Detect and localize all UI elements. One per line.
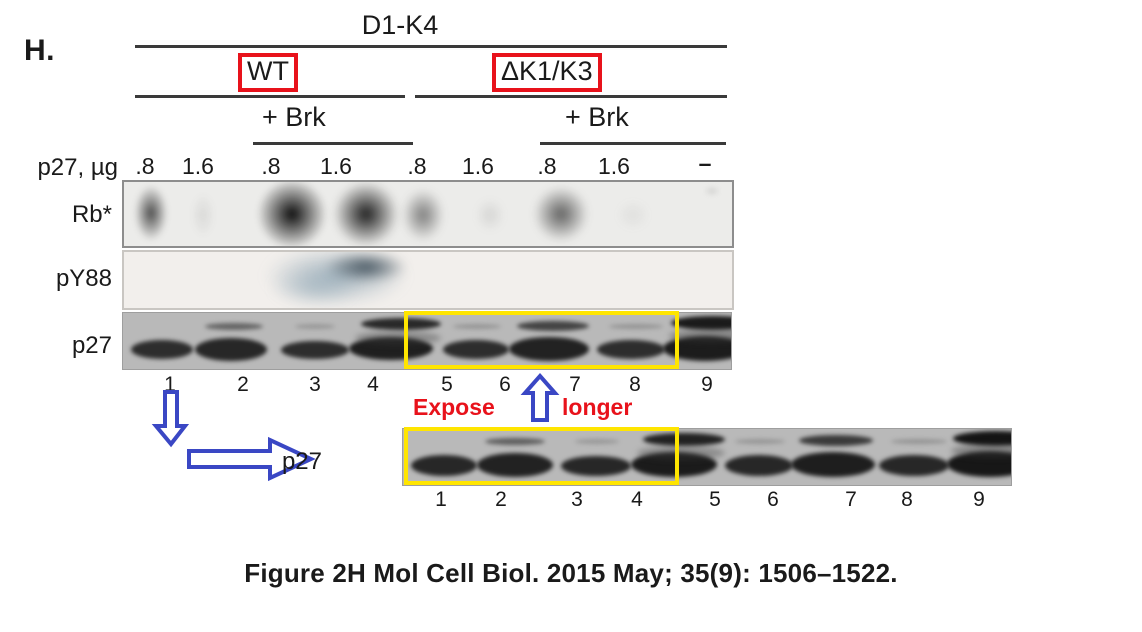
blot-band bbox=[671, 316, 732, 330]
blot-band bbox=[128, 180, 174, 248]
blot-row-label-p27-long: p27 bbox=[210, 450, 322, 474]
blot-band bbox=[524, 180, 598, 248]
dose-row-label: p27, µg bbox=[0, 156, 118, 180]
dose-lane-4: 1.6 bbox=[314, 155, 358, 178]
lane-number-bottom-9: 9 bbox=[964, 489, 994, 510]
lane-number-top-6: 6 bbox=[490, 374, 520, 395]
blot-band bbox=[411, 455, 477, 476]
lane-number-top-4: 4 bbox=[358, 374, 388, 395]
dose-lane-2: 1.6 bbox=[176, 155, 220, 178]
blot-band bbox=[643, 433, 725, 446]
blot-band bbox=[470, 194, 510, 236]
blot-band bbox=[735, 439, 785, 444]
blot-band bbox=[361, 318, 441, 330]
header-genotype-dk1k3: ΔK1/K3 bbox=[492, 53, 602, 92]
blot-band bbox=[131, 340, 193, 359]
header-treatment-brk-wt: + Brk bbox=[262, 104, 326, 131]
lane-number-top-3: 3 bbox=[300, 374, 330, 395]
header-treatment-brk-dk1k3: + Brk bbox=[565, 104, 629, 131]
lane-number-bottom-7: 7 bbox=[836, 489, 866, 510]
blot-band bbox=[799, 435, 873, 446]
dose-lane-3: .8 bbox=[254, 155, 288, 178]
blot-band bbox=[295, 324, 335, 329]
blot-band bbox=[205, 323, 263, 330]
dose-lane-9: – bbox=[688, 152, 722, 175]
rule-d1k4 bbox=[135, 45, 727, 48]
blot-band bbox=[355, 331, 441, 345]
rule-brk-wt bbox=[253, 142, 413, 145]
blot-band bbox=[891, 439, 947, 444]
lane-number-bottom-6: 6 bbox=[758, 489, 788, 510]
rule-wt bbox=[135, 95, 405, 98]
blot-band bbox=[637, 446, 725, 460]
blot-band bbox=[509, 337, 589, 361]
lane-number-bottom-1: 1 bbox=[426, 489, 456, 510]
dose-lane-8: 1.6 bbox=[592, 155, 636, 178]
up-arrow-icon bbox=[523, 374, 557, 422]
blot-band bbox=[575, 439, 619, 444]
dose-lane-1: .8 bbox=[128, 155, 162, 178]
blot-band bbox=[700, 184, 724, 198]
blot-panel-py88 bbox=[122, 250, 734, 310]
blot-band bbox=[597, 340, 665, 359]
down-arrow-icon bbox=[152, 390, 188, 446]
blot-band bbox=[561, 456, 631, 476]
header-genotype-wt: WT bbox=[238, 53, 298, 92]
header-group-d1k4: D1-K4 bbox=[340, 12, 460, 39]
rule-dk1k3 bbox=[415, 95, 727, 98]
lane-number-bottom-5: 5 bbox=[700, 489, 730, 510]
blot-row-label-p27: p27 bbox=[0, 334, 112, 358]
figure-caption: Figure 2H Mol Cell Biol. 2015 May; 35(9)… bbox=[0, 558, 1142, 589]
dose-lane-7: .8 bbox=[530, 155, 564, 178]
blot-band bbox=[879, 455, 949, 476]
blot-band bbox=[281, 341, 349, 359]
blot-band bbox=[791, 452, 875, 477]
lane-number-bottom-2: 2 bbox=[486, 489, 516, 510]
blot-panel-rb-star bbox=[122, 180, 734, 248]
lane-number-bottom-3: 3 bbox=[562, 489, 592, 510]
blot-row-label-rb: Rb* bbox=[0, 203, 112, 227]
blot-panel-p27-long bbox=[402, 428, 1012, 486]
annotation-expose-right: longer bbox=[562, 396, 632, 419]
dose-lane-5: .8 bbox=[400, 155, 434, 178]
blot-band bbox=[517, 321, 589, 331]
lane-number-bottom-8: 8 bbox=[892, 489, 922, 510]
lane-number-top-5: 5 bbox=[432, 374, 462, 395]
blot-band bbox=[443, 340, 509, 359]
annotation-expose-left: Expose bbox=[413, 396, 495, 419]
blot-band bbox=[477, 453, 553, 477]
blot-band bbox=[186, 186, 220, 244]
lane-number-top-7: 7 bbox=[560, 374, 590, 395]
blot-panel-p27-short bbox=[122, 312, 732, 370]
blot-band bbox=[195, 338, 267, 361]
lane-number-top-8: 8 bbox=[620, 374, 650, 395]
blot-band bbox=[453, 324, 501, 329]
panel-letter: H. bbox=[24, 34, 55, 68]
dose-lane-6: 1.6 bbox=[456, 155, 500, 178]
blot-band bbox=[254, 260, 374, 310]
blot-band bbox=[394, 182, 452, 248]
rule-brk-dk1k3 bbox=[540, 142, 726, 145]
blot-band bbox=[725, 455, 793, 476]
lane-number-top-9: 9 bbox=[692, 374, 722, 395]
lane-number-bottom-4: 4 bbox=[622, 489, 652, 510]
blot-row-label-py88: pY88 bbox=[0, 267, 112, 291]
blot-band bbox=[609, 324, 663, 329]
lane-number-top-2: 2 bbox=[228, 374, 258, 395]
blot-band bbox=[610, 196, 656, 234]
blot-band bbox=[485, 438, 545, 445]
